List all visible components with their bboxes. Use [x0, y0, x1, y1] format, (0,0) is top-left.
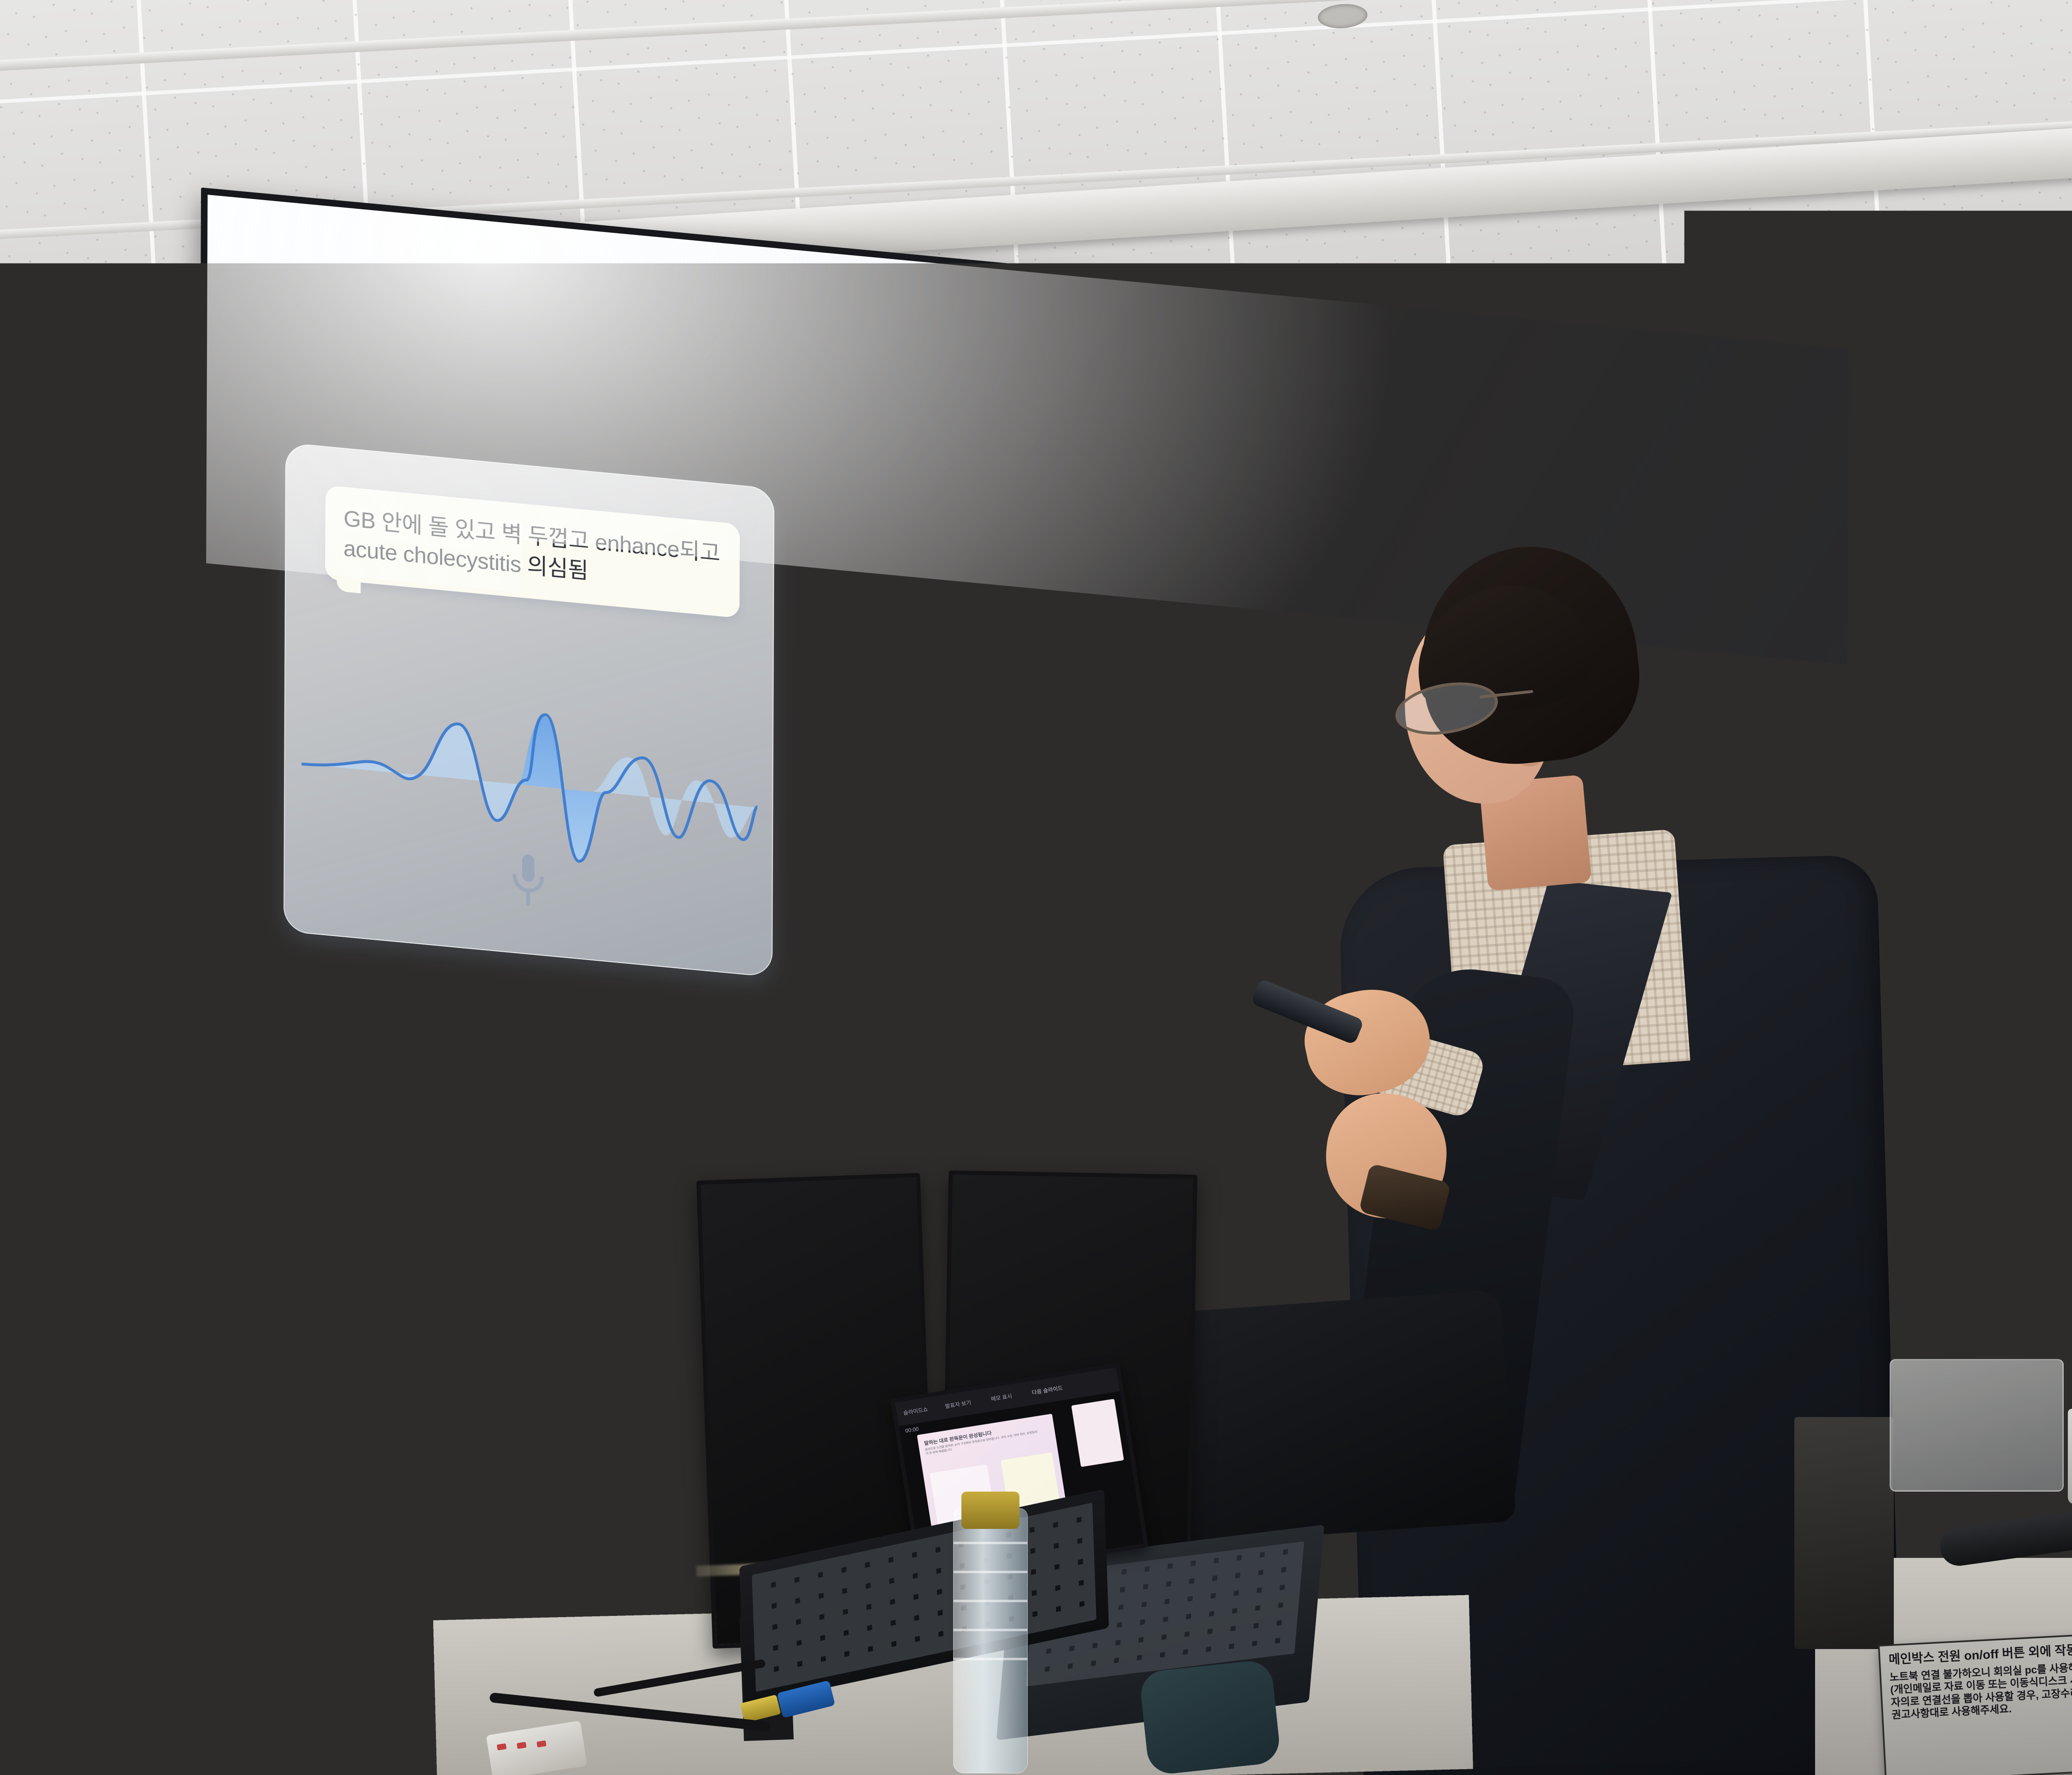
storage-tray: [1890, 1359, 2064, 1492]
laptop-toolbar-item[interactable]: 발표자 보기: [944, 1398, 972, 1410]
microphone-icon: [505, 849, 551, 915]
water-bottle: [953, 1508, 1028, 1773]
pen-holder: [2068, 1409, 2072, 1504]
clock-numeral: 9: [176, 646, 184, 660]
voice-input-card: GB 안에 돌 있고 벽 두껍고 enhance되고 acute cholecy…: [283, 443, 775, 977]
laptop-toolbar-item[interactable]: 슬라이드쇼: [903, 1405, 928, 1417]
laptop-next-slide-thumb: [1071, 1399, 1124, 1467]
automatic-structuring-arrow: Automatic Structuring: [798, 491, 1031, 798]
bag: [1161, 1289, 1516, 1545]
laptop-toolbar-item[interactable]: 메모 표시: [990, 1392, 1013, 1403]
laptop-timer: 00:00: [905, 1426, 919, 1434]
laptop-next-slide-label: 다음 슬라이드: [1031, 1383, 1063, 1396]
speech-bubble: GB 안에 돌 있고 벽 두껍고 enhance되고 acute cholecy…: [325, 485, 740, 618]
arrow-right-icon: [806, 743, 1022, 797]
wall-equipment-box: [1794, 1417, 1894, 1649]
bottle-cap: [961, 1492, 1019, 1529]
arrow-label: Automatic Structuring: [854, 670, 975, 737]
clock-numeral: 11: [179, 607, 194, 621]
mouse-pad: [1139, 1659, 1281, 1775]
clock-numeral: 10: [173, 626, 188, 640]
photo-scene: SPEAKER 12 1 2 11 10 9 말하는 대로 판독문이 완성됩니다…: [0, 0, 2072, 1775]
notice-sign: 메인박스 전원 on/off 버튼 외에 작동 금지 노트북 연결 불가하오니 …: [1878, 1628, 2072, 1775]
left-shelf: [0, 1056, 215, 1595]
